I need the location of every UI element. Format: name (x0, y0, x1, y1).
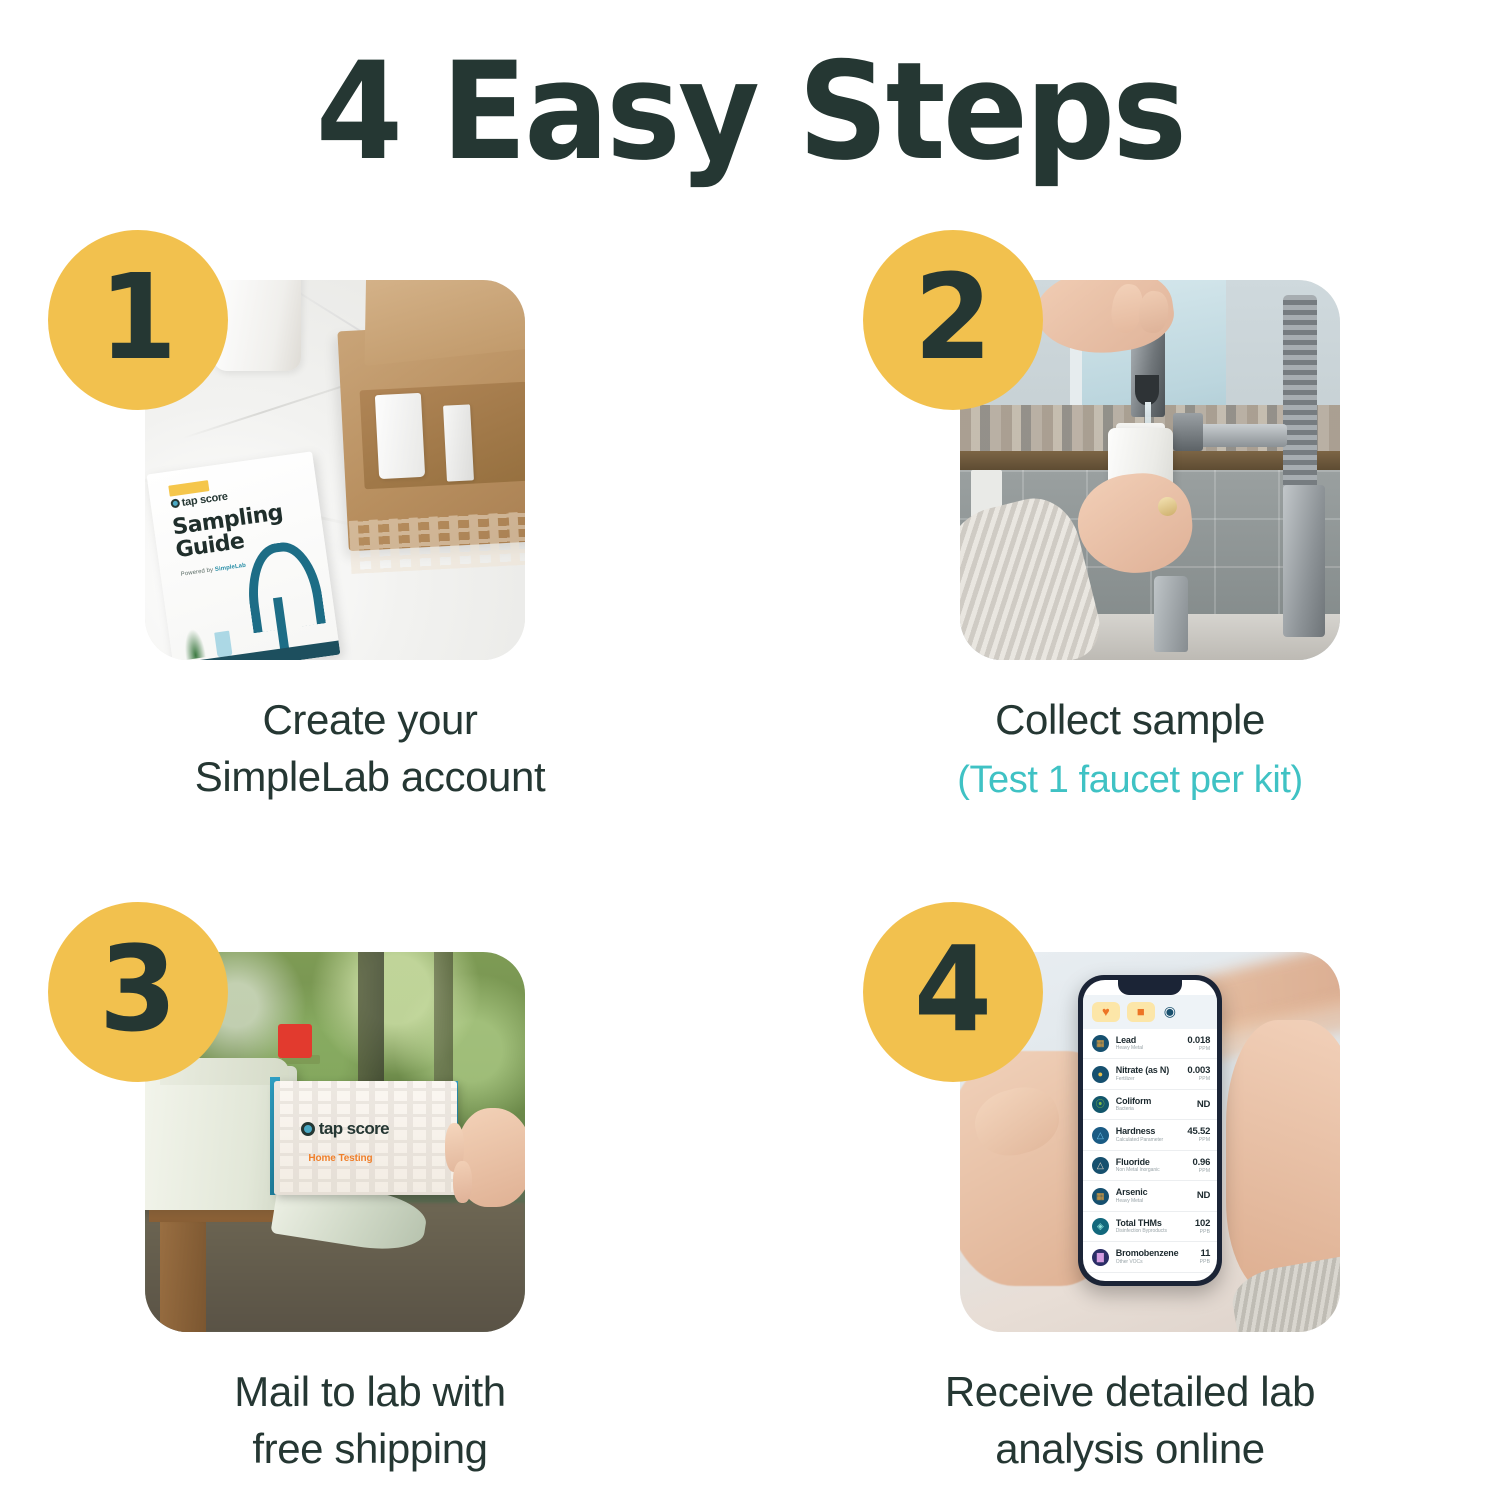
step-card-3: tap score Home Testing 3 Mail to lab wit… (40, 894, 700, 1500)
heart-pulse-icon[interactable]: ♥ (1092, 1002, 1120, 1022)
step-card-2: 2 Collect sample (Test 1 faucet per kit) (800, 222, 1460, 852)
result-value-block: 0.018 PPM (1187, 1036, 1210, 1052)
right-hand (1226, 1020, 1340, 1294)
smartphone: ♥ ■ ◉ ▦ Lead Heavy Metal (1078, 975, 1222, 1287)
result-unit: PPM (1187, 1076, 1210, 1082)
step-1-caption-line2: SimpleLab account (40, 749, 700, 806)
fluoride-icon: △ (1092, 1157, 1109, 1174)
result-name-block: Arsenic Heavy Metal (1116, 1188, 1197, 1204)
result-value: 11 (1200, 1249, 1211, 1259)
list-item[interactable]: △ Fluoride Non Metal Inorganic 0.96 PPM (1083, 1151, 1217, 1182)
result-value-block: 11 PPB (1200, 1249, 1211, 1265)
faucet-sprayhead (1173, 413, 1203, 451)
result-name: Bromobenzene (1116, 1249, 1200, 1259)
result-unit: PPM (1187, 1137, 1210, 1143)
result-unit: PPB (1195, 1229, 1210, 1235)
result-category: Bacteria (1116, 1106, 1197, 1112)
infographic-page: 4 Easy Steps tap score (0, 0, 1500, 1500)
tap-score-logo: tap score (301, 1119, 389, 1139)
mailbox-post (160, 1203, 206, 1332)
step-3-caption: Mail to lab with free shipping (40, 1364, 700, 1477)
thms-icon: ◈ (1092, 1218, 1109, 1235)
home-testing-label: Home Testing (308, 1153, 372, 1164)
result-name: Hardness (1116, 1127, 1188, 1137)
step-2-caption: Collect sample (Test 1 faucet per kit) (800, 692, 1460, 806)
step-number-badge-3: 3 (48, 902, 228, 1082)
faucet-body (1283, 485, 1325, 637)
faucet-spout (1196, 424, 1287, 447)
result-name: Fluoride (1116, 1158, 1193, 1168)
step-card-4: ♥ ■ ◉ ▦ Lead Heavy Metal (800, 894, 1460, 1500)
faucet-handle (1154, 576, 1188, 652)
result-name-block: Coliform Bacteria (1116, 1097, 1197, 1113)
step-3-caption-line2: free shipping (40, 1421, 700, 1478)
result-name-block: Fluoride Non Metal Inorganic (1116, 1158, 1193, 1174)
list-item[interactable]: ▦ Arsenic Heavy Metal ND (1083, 1181, 1217, 1212)
result-value: ND (1197, 1191, 1210, 1201)
result-value: 45.52 (1187, 1127, 1210, 1137)
step-2-caption-note: (Test 1 faucet per kit) (800, 755, 1460, 806)
list-item[interactable]: ● Nitrate (as N) Fertilizer 0.003 PPM (1083, 1059, 1217, 1090)
result-value-block: 0.003 PPM (1187, 1066, 1210, 1082)
bromobenzene-icon: ▇ (1092, 1249, 1109, 1266)
result-unit: PPB (1200, 1259, 1211, 1265)
tap-score-wordmark: tap score (319, 1119, 389, 1138)
water-drop-icon (170, 498, 180, 508)
result-value: ND (1197, 1100, 1210, 1110)
result-value: 0.018 (1187, 1036, 1210, 1046)
result-name: Coliform (1116, 1097, 1197, 1107)
list-item[interactable]: ▇ Bromobenzene Other VOCs 11 PPB (1083, 1242, 1217, 1273)
spring-faucet-coil (1283, 295, 1317, 508)
list-item[interactable]: △ Hardness Calculated Parameter 45.52 PP… (1083, 1120, 1217, 1151)
steps-grid: tap score Sampling Guide Powered by Simp… (0, 222, 1500, 1500)
step-card-1: tap score Sampling Guide Powered by Simp… (40, 222, 700, 852)
result-unit: PPM (1192, 1168, 1210, 1174)
step-4-caption: Receive detailed lab analysis online (800, 1364, 1460, 1477)
result-category: Non Metal Inorganic (1116, 1167, 1193, 1173)
result-category: Disinfection Byproducts (1116, 1228, 1195, 1234)
sample-vial (443, 405, 474, 482)
result-name-block: Nitrate (as N) Fertilizer (1116, 1066, 1188, 1082)
step-number-badge-4: 4 (863, 902, 1043, 1082)
result-name-block: Total THMs Disinfection Byproducts (1116, 1219, 1195, 1235)
sample-bottle (375, 393, 425, 479)
app-toolbar: ♥ ■ ◉ (1083, 995, 1217, 1029)
result-name: Nitrate (as N) (1116, 1066, 1188, 1076)
finger (453, 1161, 472, 1203)
result-name: Arsenic (1116, 1188, 1197, 1198)
result-unit: PPM (1187, 1046, 1210, 1052)
result-name: Total THMs (1116, 1219, 1195, 1229)
list-item[interactable]: ⦿ Coliform Bacteria ND (1083, 1090, 1217, 1121)
step-number-2: 2 (914, 258, 992, 376)
step-number-badge-1: 1 (48, 230, 228, 410)
arsenic-icon: ▦ (1092, 1188, 1109, 1205)
step-4-caption-line1: Receive detailed lab (800, 1364, 1460, 1421)
step-3-caption-line1: Mail to lab with (40, 1364, 700, 1421)
cup-icon[interactable]: ■ (1127, 1002, 1155, 1022)
result-value-block: ND (1197, 1191, 1210, 1201)
box-printed-pattern (349, 511, 525, 574)
result-value-block: 45.52 PPM (1187, 1127, 1210, 1143)
mailbox-flag (278, 1024, 312, 1058)
step-1-caption: Create your SimpleLab account (40, 692, 700, 805)
step-4-caption-line2: analysis online (800, 1421, 1460, 1478)
coliform-icon: ⦿ (1092, 1096, 1109, 1113)
result-value: 102 (1195, 1219, 1210, 1229)
list-item[interactable]: ▦ Lead Heavy Metal 0.018 PPM (1083, 1029, 1217, 1060)
powered-by-label: Powered by SimpleLab (181, 563, 247, 578)
result-value-block: ND (1197, 1100, 1210, 1110)
result-name: Lead (1116, 1036, 1188, 1046)
phone-screen[interactable]: ♥ ■ ◉ ▦ Lead Heavy Metal (1083, 980, 1217, 1282)
step-number-1: 1 (99, 258, 177, 376)
list-item[interactable]: ◈ Total THMs Disinfection Byproducts 102… (1083, 1212, 1217, 1243)
eye-icon[interactable]: ◉ (1164, 1003, 1176, 1020)
result-name-block: Bromobenzene Other VOCs (1116, 1249, 1200, 1265)
step-number-4: 4 (914, 930, 992, 1048)
ring (1158, 497, 1177, 516)
sampling-guide-booklet: tap score Sampling Guide Powered by Simp… (147, 452, 341, 660)
results-list[interactable]: ▦ Lead Heavy Metal 0.018 PPM (1083, 1029, 1217, 1282)
simplelab-wordmark: SimpleLab (215, 563, 247, 573)
result-category: Fertilizer (1116, 1076, 1188, 1082)
result-category: Calculated Parameter (1116, 1137, 1188, 1143)
result-value-block: 102 PPB (1195, 1219, 1210, 1235)
step-number-3: 3 (99, 930, 177, 1048)
result-category: Other VOCs (1116, 1259, 1200, 1265)
result-category: Heavy Metal (1116, 1045, 1188, 1051)
phone-notch (1118, 980, 1183, 995)
page-title: 4 Easy Steps (53, 44, 1448, 179)
result-value-block: 0.96 PPM (1192, 1158, 1210, 1174)
result-category: Heavy Metal (1116, 1198, 1197, 1204)
lead-icon: ▦ (1092, 1035, 1109, 1052)
result-value: 0.96 (1192, 1158, 1210, 1168)
result-value: 0.003 (1187, 1066, 1210, 1076)
result-name-block: Lead Heavy Metal (1116, 1036, 1188, 1052)
plant-illustration (180, 625, 208, 660)
step-2-caption-line1: Collect sample (800, 692, 1460, 749)
hardness-icon: △ (1092, 1127, 1109, 1144)
result-name-block: Hardness Calculated Parameter (1116, 1127, 1188, 1143)
nitrate-icon: ● (1092, 1066, 1109, 1083)
step-1-caption-line1: Create your (40, 692, 700, 749)
step-number-badge-2: 2 (863, 230, 1043, 410)
water-glass-illustration (215, 631, 233, 657)
water-drop-icon (301, 1122, 315, 1136)
powered-by-prefix: Powered by (181, 567, 216, 578)
